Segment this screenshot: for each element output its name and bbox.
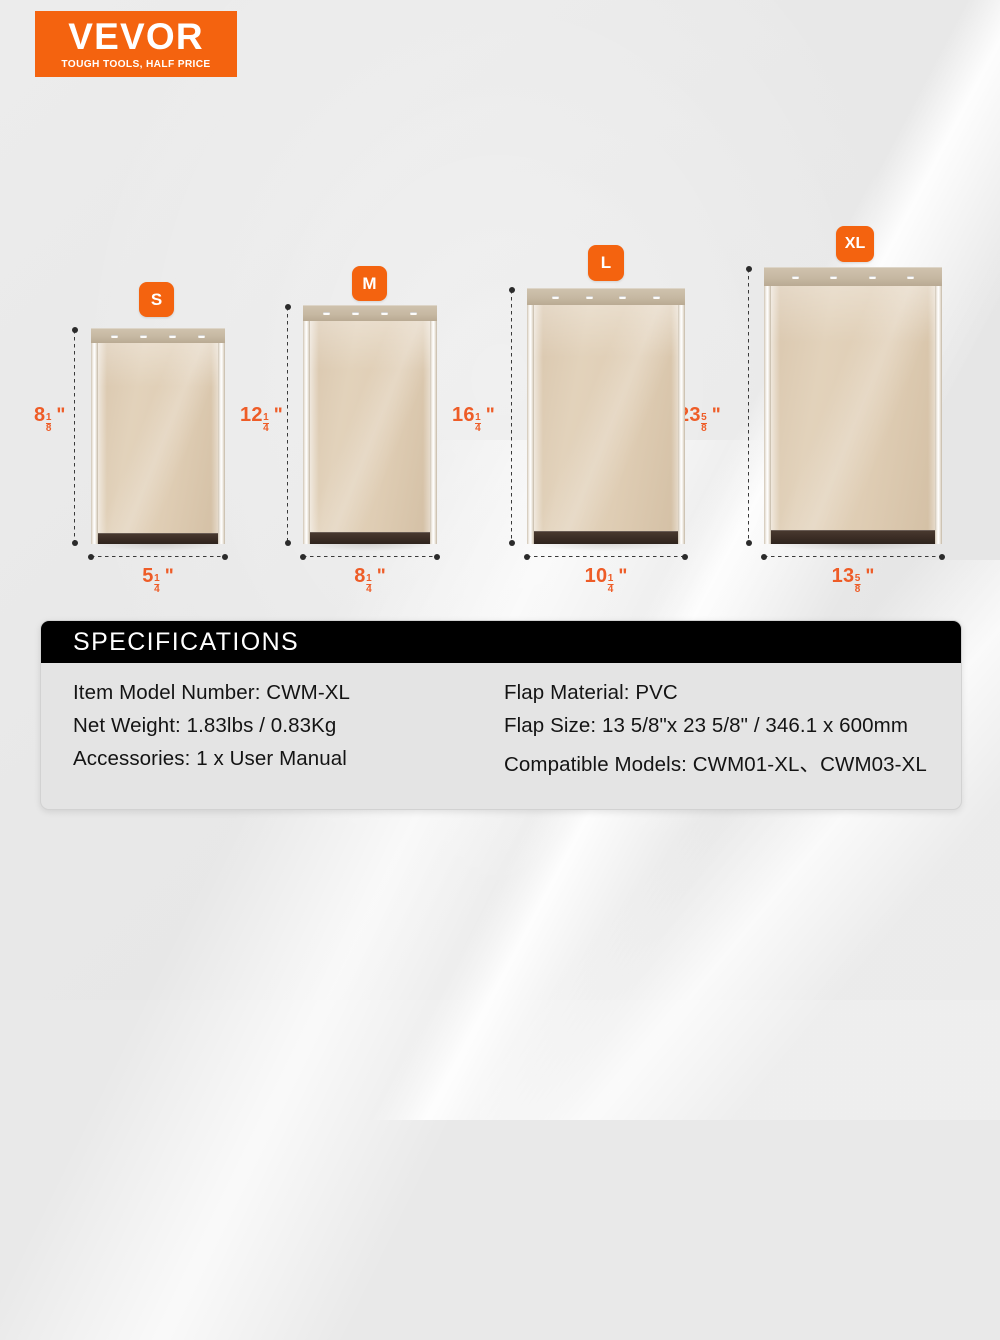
flap-drop-shadow xyxy=(531,543,681,551)
size-badge-label: L xyxy=(601,253,611,273)
size-badge-m: M xyxy=(352,266,387,301)
dimension-endpoint xyxy=(939,554,945,560)
dimension-fraction: 1 4 xyxy=(263,413,269,433)
dimension-fraction: 1 8 xyxy=(46,413,52,433)
fraction-denominator: 4 xyxy=(366,584,372,595)
specifications-panel: SPECIFICATIONS Item Model Number: CWM-XL… xyxy=(40,620,962,810)
specifications-column-left: Item Model Number: CWM-XL Net Weight: 1.… xyxy=(41,681,496,777)
frame-rail-right xyxy=(678,305,685,544)
width-dimension-label: 13 5 8 " xyxy=(832,565,875,595)
flap-pane xyxy=(771,286,935,544)
size-badge-label: S xyxy=(151,290,162,310)
screw-slot-icon xyxy=(381,312,388,315)
weather-strip-highlight xyxy=(98,533,218,534)
width-dimension-label: 8 1 4 " xyxy=(354,565,385,595)
frame-rail-left xyxy=(91,343,98,544)
screw-slot-icon xyxy=(410,312,417,315)
frame-rail-left xyxy=(527,305,534,544)
spec-row: Accessories: 1 x User Manual xyxy=(73,747,496,771)
dimension-endpoint xyxy=(746,266,752,272)
dimension-fraction: 1 4 xyxy=(366,574,372,594)
height-dimension-label: 16 1 4 " xyxy=(452,404,495,434)
product-spec-image: VEVOR TOUGH TOOLS, HALF PRICE S xyxy=(0,0,1000,1000)
pane-sheen xyxy=(310,321,430,544)
dimension-unit: " xyxy=(165,566,174,588)
pane-sheen xyxy=(98,343,218,544)
mounting-bracket xyxy=(764,267,942,286)
dimension-endpoint xyxy=(72,540,78,546)
width-dimension-label: 10 1 4 " xyxy=(585,565,628,595)
logo-wordmark: VEVOR xyxy=(68,19,204,55)
dimension-whole: 12 xyxy=(240,404,263,427)
flap-body xyxy=(527,288,685,544)
screw-slot-icon xyxy=(907,276,914,279)
specifications-body: Item Model Number: CWM-XL Net Weight: 1.… xyxy=(41,663,961,777)
screw-slot-icon xyxy=(792,276,799,279)
dimension-endpoint xyxy=(524,554,530,560)
dimension-endpoint xyxy=(682,554,688,560)
fraction-numerator: 5 xyxy=(701,413,707,423)
height-dimension-line xyxy=(287,307,288,543)
dimension-endpoint xyxy=(222,554,228,560)
dimension-fraction: 1 4 xyxy=(608,574,614,594)
fraction-denominator: 8 xyxy=(46,423,52,434)
fraction-denominator: 8 xyxy=(855,584,861,595)
dimension-unit: " xyxy=(56,405,65,427)
frame-rail-right xyxy=(935,286,942,544)
frame-rail-left xyxy=(764,286,771,544)
dimension-endpoint xyxy=(509,540,515,546)
flap-drop-shadow xyxy=(768,543,938,551)
dimension-fraction: 1 4 xyxy=(475,413,481,433)
dimension-endpoint xyxy=(300,554,306,560)
screw-slot-icon xyxy=(552,296,559,299)
specifications-title: SPECIFICATIONS xyxy=(41,628,299,657)
spec-row: Compatible Models: CWM01-XL、CWM03-XL xyxy=(504,747,961,777)
dimension-whole: 8 xyxy=(354,565,365,588)
width-dimension-line xyxy=(91,556,225,557)
dimension-unit: " xyxy=(486,405,495,427)
dimension-endpoint xyxy=(746,540,752,546)
dimension-whole: 5 xyxy=(142,565,153,588)
dimension-unit: " xyxy=(377,566,386,588)
screw-slot-icon xyxy=(869,276,876,279)
screw-slot-icon xyxy=(586,296,593,299)
spec-row: Net Weight: 1.83lbs / 0.83Kg xyxy=(73,714,496,738)
screw-slot-icon xyxy=(653,296,660,299)
flap-pane xyxy=(310,321,430,544)
spec-row: Flap Material: PVC xyxy=(504,681,961,705)
height-dimension-line xyxy=(511,290,512,543)
flap-drop-shadow xyxy=(307,543,433,551)
pet-door-flap-m xyxy=(303,305,437,544)
fraction-denominator: 8 xyxy=(701,423,707,434)
fraction-denominator: 4 xyxy=(154,584,160,595)
dimension-whole: 13 xyxy=(832,565,855,588)
dimension-fraction: 5 8 xyxy=(855,574,861,594)
dimension-endpoint xyxy=(285,540,291,546)
height-dimension-line xyxy=(74,330,75,543)
size-badge-xl: XL xyxy=(836,226,874,262)
width-dimension-line xyxy=(303,556,437,557)
fraction-denominator: 4 xyxy=(608,584,614,595)
dimension-whole: 10 xyxy=(585,565,608,588)
spec-row: Item Model Number: CWM-XL xyxy=(73,681,496,705)
dimension-whole: 8 xyxy=(34,404,45,427)
frame-rail-right xyxy=(218,343,225,544)
flap-body xyxy=(303,305,437,544)
dimension-endpoint xyxy=(434,554,440,560)
size-badge-label: M xyxy=(362,274,376,294)
pane-sheen xyxy=(534,305,678,544)
dimension-endpoint xyxy=(88,554,94,560)
mounting-bracket xyxy=(91,328,225,343)
flap-body xyxy=(764,267,942,544)
weather-strip xyxy=(534,531,678,544)
height-dimension-label: 8 1 8 " xyxy=(34,404,65,434)
flap-drop-shadow xyxy=(95,543,221,551)
dimension-endpoint xyxy=(285,304,291,310)
dimension-whole: 16 xyxy=(452,404,475,427)
weather-strip-highlight xyxy=(310,532,430,533)
fraction-numerator: 1 xyxy=(608,574,614,584)
dimension-endpoint xyxy=(761,554,767,560)
fraction-numerator: 5 xyxy=(855,574,861,584)
frame-rail-left xyxy=(303,321,310,544)
screw-slot-icon xyxy=(619,296,626,299)
height-dimension-line xyxy=(748,269,749,543)
screw-slot-icon xyxy=(111,335,118,338)
vevor-logo: VEVOR TOUGH TOOLS, HALF PRICE xyxy=(35,11,237,77)
mounting-bracket xyxy=(303,305,437,321)
fraction-denominator: 4 xyxy=(475,423,481,434)
fraction-denominator: 4 xyxy=(263,423,269,434)
height-dimension-label: 12 1 4 " xyxy=(240,404,283,434)
fraction-numerator: 1 xyxy=(154,574,160,584)
logo-tagline: TOUGH TOOLS, HALF PRICE xyxy=(61,58,210,71)
size-badge-l: L xyxy=(588,245,624,281)
pet-door-flap-l xyxy=(527,288,685,544)
spec-row: Flap Size: 13 5/8"x 23 5/8" / 346.1 x 60… xyxy=(504,714,961,738)
width-dimension-label: 5 1 4 " xyxy=(142,565,173,595)
fraction-numerator: 1 xyxy=(46,413,52,423)
flap-pane xyxy=(98,343,218,544)
width-dimension-line xyxy=(764,556,942,557)
dimension-endpoint xyxy=(72,327,78,333)
screw-slot-icon xyxy=(198,335,205,338)
screw-slot-icon xyxy=(323,312,330,315)
weather-strip-highlight xyxy=(771,530,935,531)
frame-rail-right xyxy=(430,321,437,544)
pane-sheen xyxy=(771,286,935,544)
fraction-numerator: 1 xyxy=(475,413,481,423)
dimension-unit: " xyxy=(618,566,627,588)
width-dimension-line xyxy=(527,556,685,557)
weather-strip xyxy=(98,533,218,544)
mounting-bracket xyxy=(527,288,685,305)
weather-strip xyxy=(771,530,935,544)
screw-slot-icon xyxy=(352,312,359,315)
flap-body xyxy=(91,328,225,544)
weather-strip-highlight xyxy=(534,531,678,532)
screw-slot-icon xyxy=(140,335,147,338)
fraction-numerator: 1 xyxy=(263,413,269,423)
pet-door-flap-xl xyxy=(764,267,942,544)
screw-slot-icon xyxy=(169,335,176,338)
specifications-column-right: Flap Material: PVC Flap Size: 13 5/8"x 2… xyxy=(496,681,961,777)
flap-pane xyxy=(534,305,678,544)
weather-strip xyxy=(310,532,430,544)
screw-slot-icon xyxy=(830,276,837,279)
size-badge-label: XL xyxy=(845,235,865,253)
pet-door-flap-s xyxy=(91,328,225,544)
dimension-fraction: 5 8 xyxy=(701,413,707,433)
dimension-endpoint xyxy=(509,287,515,293)
specifications-header: SPECIFICATIONS xyxy=(41,621,961,663)
dimension-unit: " xyxy=(274,405,283,427)
dimension-unit: " xyxy=(712,405,721,427)
dimension-fraction: 1 4 xyxy=(154,574,160,594)
size-badge-s: S xyxy=(139,282,174,317)
fraction-numerator: 1 xyxy=(366,574,372,584)
dimension-unit: " xyxy=(865,566,874,588)
